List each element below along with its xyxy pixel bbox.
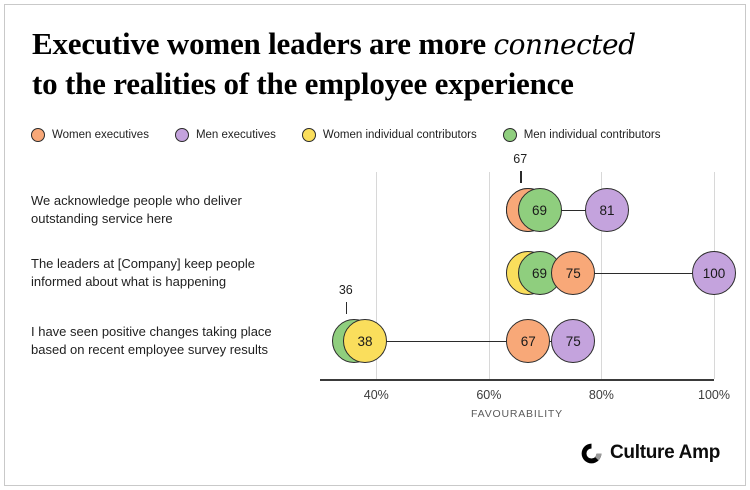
data-bubble[interactable]: 75 bbox=[551, 319, 595, 363]
data-bubble-value: 69 bbox=[532, 266, 547, 281]
data-bubble-value: 75 bbox=[566, 334, 581, 349]
x-gridline bbox=[489, 172, 490, 379]
bubble-chart: 40%60%80%100%FAVOURABILITYWe acknowledge… bbox=[0, 0, 750, 490]
data-bubble-value: 67 bbox=[521, 334, 536, 349]
data-bubble[interactable]: 38 bbox=[343, 319, 387, 363]
data-bubble-value: 100 bbox=[703, 266, 726, 281]
culture-amp-logo: Culture Amp bbox=[581, 442, 720, 464]
logo-wordmark: Culture Amp bbox=[610, 442, 720, 464]
row-label: The leaders at [Company] keep people inf… bbox=[31, 255, 303, 291]
x-tick-label: 60% bbox=[476, 388, 501, 402]
x-axis-title: FAVOURABILITY bbox=[471, 408, 563, 420]
annotation-value-label: 36 bbox=[339, 283, 353, 297]
row-label: We acknowledge people who deliver outsta… bbox=[31, 192, 303, 228]
infographic-canvas: Executive women leaders are more connect… bbox=[0, 0, 750, 490]
x-tick-label: 80% bbox=[589, 388, 614, 402]
annotation-tick bbox=[520, 171, 521, 183]
data-bubble[interactable]: 75 bbox=[551, 251, 595, 295]
data-bubble-value: 81 bbox=[600, 203, 615, 218]
x-tick-label: 100% bbox=[698, 388, 730, 402]
data-bubble-value: 38 bbox=[358, 334, 373, 349]
data-bubble-value: 75 bbox=[566, 266, 581, 281]
data-bubble[interactable]: 81 bbox=[585, 188, 629, 232]
x-axis-line bbox=[320, 379, 714, 381]
data-bubble[interactable]: 67 bbox=[506, 319, 550, 363]
data-bubble[interactable]: 100 bbox=[692, 251, 736, 295]
row-label: I have seen positive changes taking plac… bbox=[31, 323, 303, 359]
annotation-value-label: 67 bbox=[513, 152, 527, 166]
annotation-tick bbox=[346, 302, 347, 314]
x-tick-label: 40% bbox=[364, 388, 389, 402]
culture-amp-c-mark bbox=[581, 443, 602, 464]
data-bubble[interactable]: 69 bbox=[518, 188, 562, 232]
data-bubble-value: 69 bbox=[532, 203, 547, 218]
